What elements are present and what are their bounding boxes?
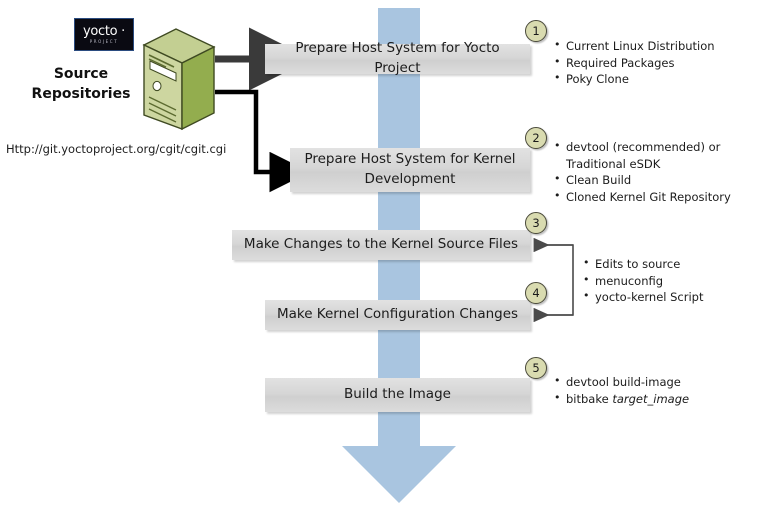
list-item: devtool (recommended) or <box>554 139 731 156</box>
step-box-label: Prepare Host System for Yocto Project <box>273 39 522 78</box>
step-box-build-image[interactable]: Build the Image <box>265 378 530 412</box>
yocto-project-logo: yocto · PROJECT <box>74 18 134 51</box>
step2-bullet-list: devtool (recommended) or Traditional eSD… <box>554 139 731 205</box>
list-item: Poky Clone <box>554 71 715 88</box>
source-label-line1: Source <box>22 64 140 84</box>
connector-bracket-step3-step4 <box>541 245 573 315</box>
list-item: Required Packages <box>554 55 715 72</box>
list-item: Clean Build <box>554 172 731 189</box>
list-item-continuation: Traditional eSDK <box>554 156 731 173</box>
step-badge-4: 4 <box>525 282 547 304</box>
list-item: bitbake target_image <box>554 391 689 408</box>
step-box-label: Prepare Host System for Kernel Developme… <box>298 150 522 189</box>
step-badge-2: 2 <box>525 127 547 149</box>
flow-down-arrowhead-icon <box>342 446 456 503</box>
logo-subtext: PROJECT <box>90 39 118 44</box>
command-argument: target_image <box>612 392 689 406</box>
list-item: menuconfig <box>583 273 704 290</box>
step-box-label: Build the Image <box>344 385 451 405</box>
list-item: Cloned Kernel Git Repository <box>554 189 731 206</box>
step-box-prepare-host-yocto[interactable]: Prepare Host System for Yocto Project <box>265 44 530 74</box>
step-badge-5: 5 <box>525 357 547 379</box>
list-item: yocto-kernel Script <box>583 289 704 306</box>
step-badge-1: 1 <box>525 20 547 42</box>
step-box-prepare-host-kernel[interactable]: Prepare Host System for Kernel Developme… <box>290 148 530 192</box>
source-label-line2: Repositories <box>22 84 140 104</box>
connector-server-to-step2 <box>215 92 274 172</box>
list-item: Current Linux Distribution <box>554 38 715 55</box>
step-box-make-source-changes[interactable]: Make Changes to the Kernel Source Files <box>232 230 530 260</box>
step-badge-3: 3 <box>525 212 547 234</box>
list-item: Edits to source <box>583 256 704 273</box>
server-tower-icon <box>136 25 218 135</box>
repository-url: Http://git.yoctoproject.org/cgit/cgit.cg… <box>6 142 226 156</box>
step-box-label: Make Changes to the Kernel Source Files <box>244 235 518 255</box>
source-repositories-label: Source Repositories <box>22 64 140 104</box>
step-box-make-config-changes[interactable]: Make Kernel Configuration Changes <box>265 300 530 330</box>
step3-step4-bullet-list: Edits to source menuconfig yocto-kernel … <box>583 256 704 306</box>
logo-wordmark: yocto · <box>83 25 125 38</box>
step1-bullet-list: Current Linux Distribution Required Pack… <box>554 38 715 88</box>
list-item: devtool build-image <box>554 374 689 391</box>
command-prefix: bitbake <box>566 392 612 406</box>
step5-bullet-list: devtool build-image bitbake target_image <box>554 374 689 407</box>
diagram-canvas: yocto · PROJECT Source Repositories Http… <box>0 0 769 517</box>
step-box-label: Make Kernel Configuration Changes <box>277 305 518 325</box>
